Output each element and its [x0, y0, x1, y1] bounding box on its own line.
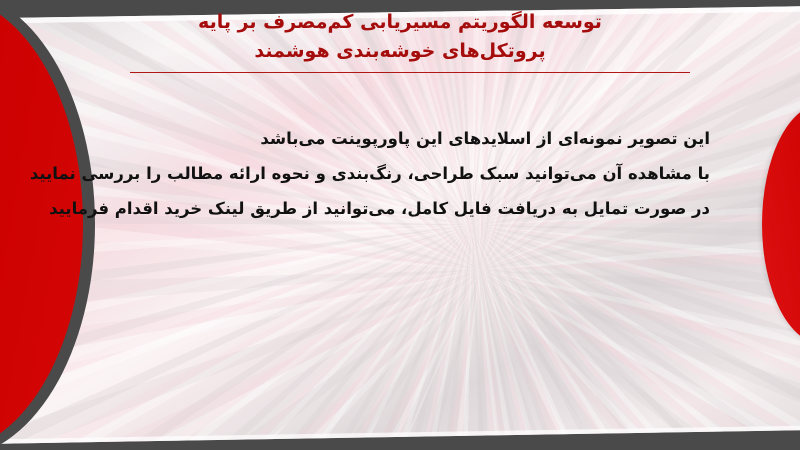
slide-title-line-2: پروتکل‌های خوشه‌بندی هوشمند — [110, 37, 690, 66]
title-underline-rule — [130, 72, 690, 73]
presentation-slide: توسعه الگوریتم مسیریابی کم‌مصرف بر پایه … — [0, 0, 800, 450]
slide-body: این تصویر نمونه‌ای از اسلایدهای این پاور… — [90, 122, 710, 227]
slide-title: توسعه الگوریتم مسیریابی کم‌مصرف بر پایه … — [110, 8, 690, 65]
slide-body-line-1: این تصویر نمونه‌ای از اسلایدهای این پاور… — [90, 122, 710, 157]
slide-body-line-2: با مشاهده آن می‌توانید سبک طراحی، رنگ‌بن… — [90, 157, 710, 192]
slide-title-line-1: توسعه الگوریتم مسیریابی کم‌مصرف بر پایه — [110, 8, 690, 37]
slide-body-line-3: در صورت تمایل به دریافت فایل کامل، می‌تو… — [90, 192, 710, 227]
